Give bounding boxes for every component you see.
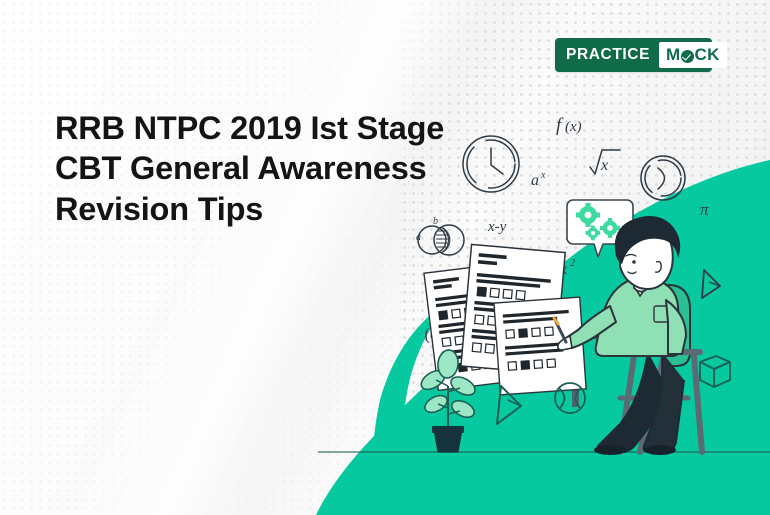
logo-mock-box: M CK [659,42,727,68]
check-circle-icon [681,50,694,63]
logo-practice-text: PRACTICE [555,46,659,64]
function-fx-arg: (x) [565,119,582,135]
sqrt-x-symbol: x [590,150,620,174]
illustration-layer: a b f (x) a x x x-y x 2 π (x,y) (a,b) [0,0,770,515]
venn-label-a: a [416,232,421,243]
cube-outline [700,356,730,387]
pi-symbol: π [700,200,709,219]
logo-mock-text: M CK [666,45,720,65]
x-minus-y-symbol: x-y [487,219,507,235]
svg-text:x: x [540,170,546,181]
student-figure [554,216,686,455]
function-fx-symbol: f [556,115,564,136]
blog-banner: a b f (x) a x x x-y x 2 π (x,y) (a,b) [0,0,770,515]
logo-mock-prefix: M [666,45,680,65]
wall-clock-left [463,136,519,192]
svg-text:2: 2 [570,258,575,269]
svg-text:a: a [531,172,539,189]
svg-text:x: x [600,157,608,174]
triangle-outline-small [702,270,720,298]
practicemock-logo[interactable]: PRACTICE M CK [555,38,712,72]
a-power-x-symbol: a x [531,170,546,189]
page-title: RRB NTPC 2019 Ist Stage CBT General Awar… [55,108,445,229]
logo-mock-suffix: CK [695,45,720,65]
wall-clock-right [641,156,685,200]
